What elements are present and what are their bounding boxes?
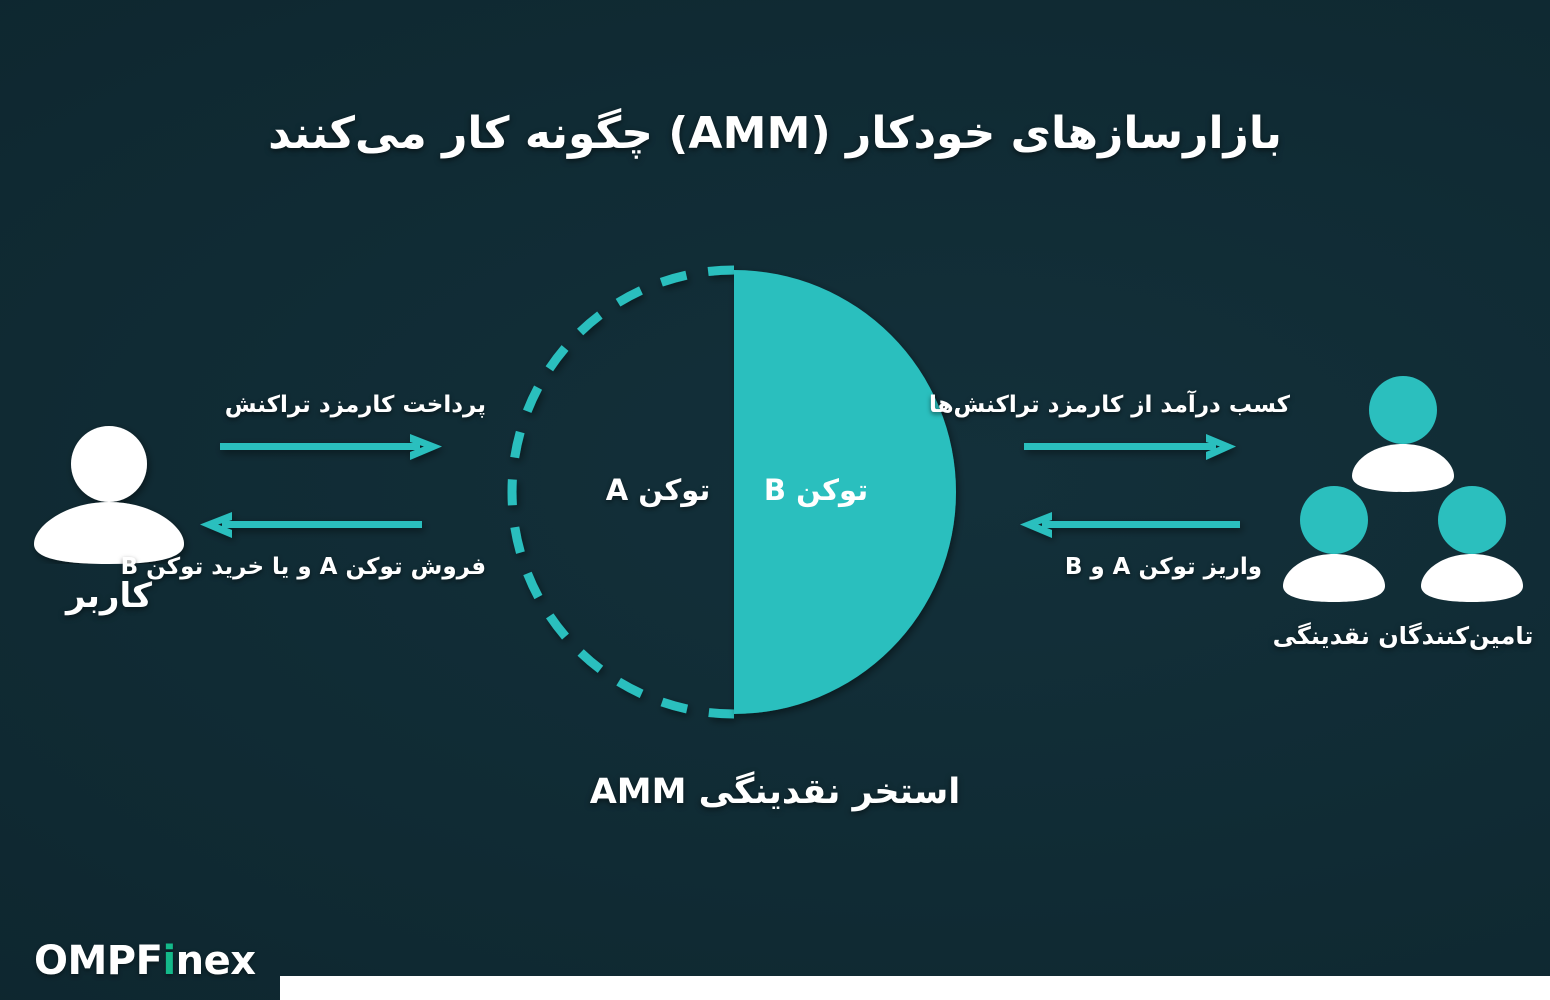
arrow-left-icon xyxy=(186,512,446,538)
infographic-canvas: بازارسازهای خودکار (AMM) چگونه کار می‌کن… xyxy=(0,0,1550,1000)
arrow-right-icon xyxy=(980,434,1240,460)
pool-token-b-label: توکن B xyxy=(736,473,896,507)
pool-caption: استخر نقدینگی AMM xyxy=(0,772,1550,812)
arrow-left-icon xyxy=(1012,512,1252,538)
flow-lp-deposits-tokens: واریز توکن A و B xyxy=(1012,512,1262,580)
amm-liquidity-pool-diagram: توکن A توکن B xyxy=(508,266,960,718)
brand-logo-accent: i xyxy=(162,938,175,984)
actor-liquidity-providers: تامین‌کنندگان نقدینگی xyxy=(1272,372,1534,650)
arrow-right-icon xyxy=(196,434,446,460)
flow-user-swaps-tokens-label: فروش توکن A و یا خرید توکن B xyxy=(186,554,486,580)
user-person-icon xyxy=(24,424,194,564)
actor-user-label: کاربر xyxy=(24,576,194,616)
flow-lp-earns-fees-label: کسب درآمد از کارمزد تراکنش‌ها xyxy=(980,392,1290,418)
pool-token-a-label: توکن A xyxy=(578,473,738,507)
flow-lp-earns-fees: کسب درآمد از کارمزد تراکنش‌ها xyxy=(980,392,1290,460)
flow-user-swaps-tokens: فروش توکن A و یا خرید توکن B xyxy=(186,512,486,580)
bottom-strip xyxy=(280,976,1550,1000)
brand-logo-suffix: nex xyxy=(176,938,256,984)
actor-user: کاربر xyxy=(24,424,194,616)
flow-user-pays-fee: پرداخت کارمزد تراکنش xyxy=(196,392,486,460)
page-title: بازارسازهای خودکار (AMM) چگونه کار می‌کن… xyxy=(0,108,1550,159)
actor-liquidity-providers-label: تامین‌کنندگان نقدینگی xyxy=(1272,622,1534,650)
flow-lp-deposits-tokens-label: واریز توکن A و B xyxy=(1012,554,1262,580)
brand-logo: OMPFinex xyxy=(34,938,256,984)
group-of-people-icon xyxy=(1272,372,1534,612)
brand-logo-prefix: OMPF xyxy=(34,938,162,984)
flow-user-pays-fee-label: پرداخت کارمزد تراکنش xyxy=(196,392,486,418)
